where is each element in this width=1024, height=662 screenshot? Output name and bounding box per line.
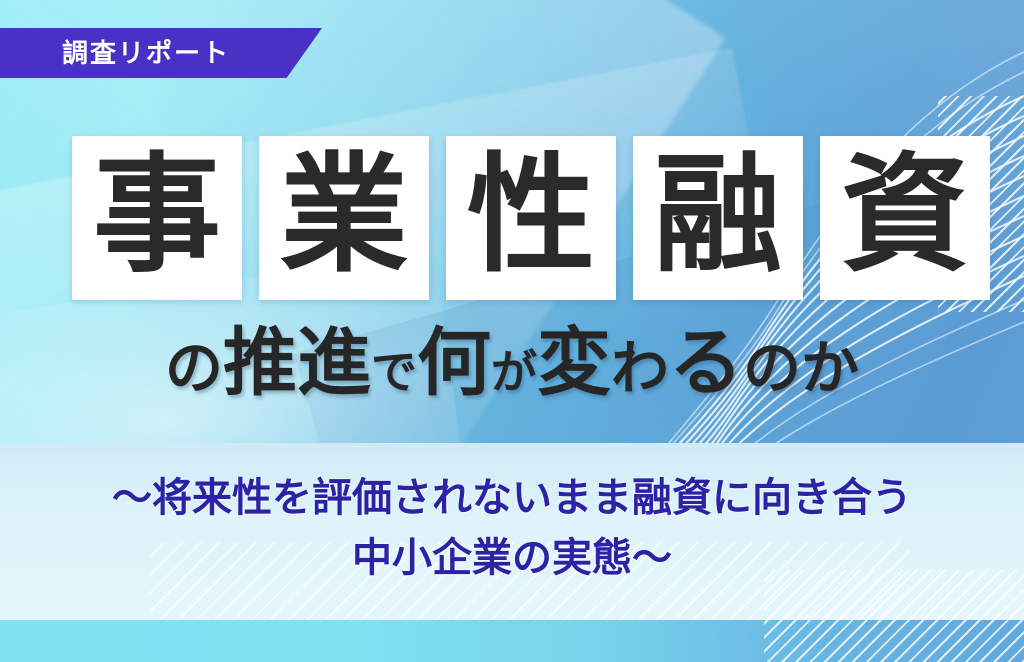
- poster-canvas: 調査リポート 事 業 性 融 資 の推進で何が変わるのか 〜将来性を評価されない…: [0, 0, 1024, 662]
- subtitle-line-2: 中小企業の実態〜: [0, 528, 1024, 588]
- title-tile-char: 事: [93, 152, 221, 280]
- title-tile: 事: [72, 136, 242, 300]
- title-tile-char: 融: [654, 152, 782, 280]
- headline-seg: 何: [417, 321, 491, 404]
- title-tile-char: 業: [280, 152, 408, 280]
- title-tile: 資: [820, 136, 990, 300]
- headline-seg: 推進: [223, 321, 371, 404]
- title-tile-row: 事 業 性 融 資: [72, 136, 990, 300]
- headline-seg: る: [669, 321, 743, 404]
- headline-seg: で: [371, 346, 417, 398]
- report-badge: 調査リポート: [0, 28, 322, 78]
- title-tile: 性: [446, 136, 616, 300]
- headline-seg: の: [165, 336, 223, 401]
- headline-seg: の: [743, 336, 801, 401]
- report-badge-label: 調査リポート: [62, 40, 230, 66]
- title-tile: 業: [259, 136, 429, 300]
- headline-secondary-line: の推進で何が変わるのか: [0, 326, 1024, 400]
- title-tile: 融: [633, 136, 803, 300]
- headline-seg: わ: [611, 336, 669, 401]
- headline-seg: か: [801, 336, 859, 401]
- subtitle-line-1: 〜将来性を評価されないまま融資に向き合う: [0, 468, 1024, 528]
- subtitle-block: 〜将来性を評価されないまま融資に向き合う 中小企業の実態〜: [0, 468, 1024, 588]
- headline-seg: が: [491, 346, 537, 398]
- title-tile-char: 資: [841, 152, 969, 280]
- title-tile-char: 性: [467, 152, 595, 280]
- headline-seg: 変: [537, 321, 611, 404]
